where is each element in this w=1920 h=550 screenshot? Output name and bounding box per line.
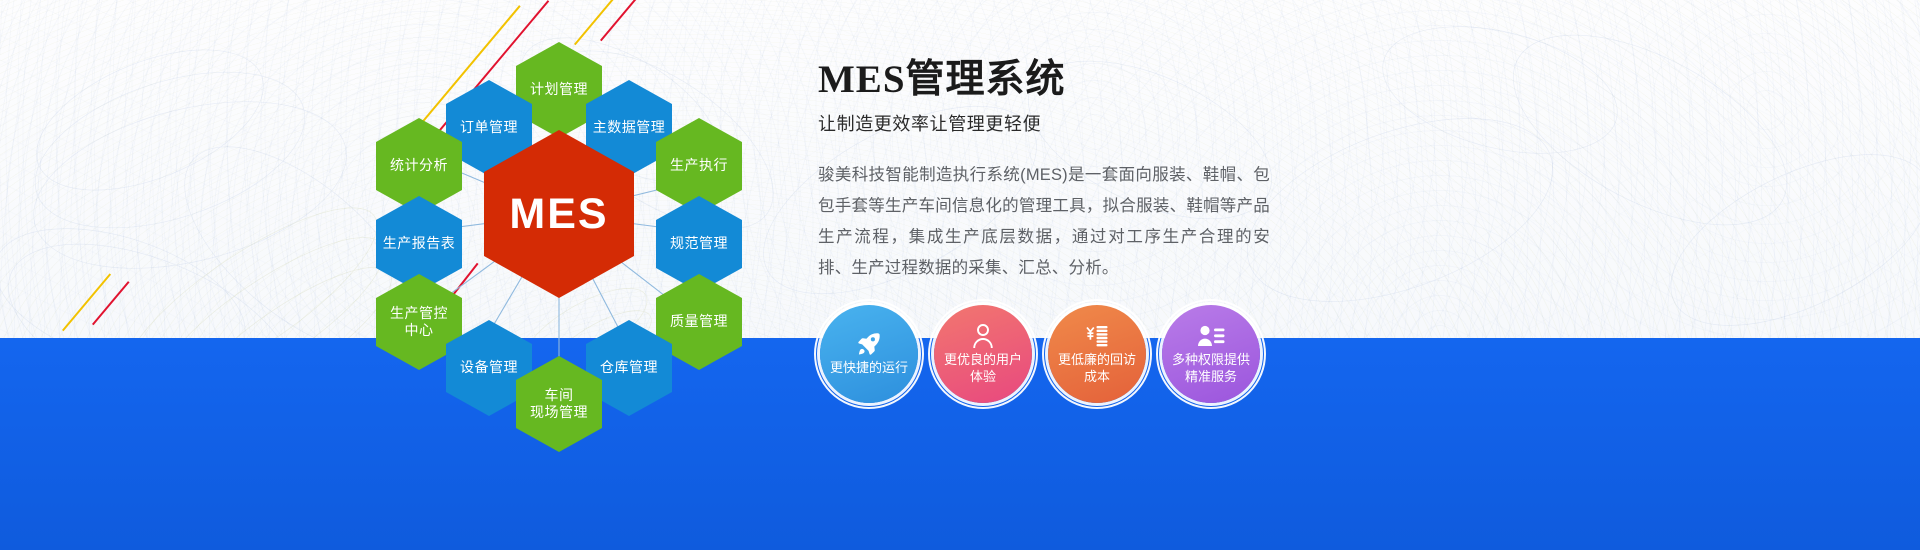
user-icon <box>971 323 995 349</box>
hex-label: 统计分析 <box>390 157 448 174</box>
content-text-block: MES管理系统 让制造更效率让管理更轻便 骏美科技智能制造执行系统(MES)是一… <box>818 60 1288 284</box>
badge-label: 更低廉的回访成本 <box>1048 352 1146 385</box>
feature-badge-experience[interactable]: 更优良的用户体验 <box>934 305 1032 403</box>
feature-badge-cost[interactable]: 更低廉的回访成本 <box>1048 305 1146 403</box>
badge-label: 更优良的用户体验 <box>934 352 1032 385</box>
mes-hexagon-diagram: 计划管理 订单管理 主数据管理 统计分析 生产执行 生产报告表 规范管理 生产管… <box>330 18 790 438</box>
rocket-icon <box>856 331 882 357</box>
feature-badge-row: 更快捷的运行 更优良的用户体验 <box>820 305 1260 403</box>
feature-badge-faster[interactable]: 更快捷的运行 <box>820 305 918 403</box>
page-subtitle: 让制造更效率让管理更轻便 <box>818 110 1288 136</box>
hex-label: 生产执行 <box>670 157 728 174</box>
hex-label: 车间现场管理 <box>530 387 588 421</box>
hex-label: 设备管理 <box>460 359 518 376</box>
page-title: MES管理系统 <box>818 60 1288 101</box>
user-list-icon <box>1197 323 1225 349</box>
hex-label: 生产报告表 <box>383 235 456 252</box>
feature-badge-permissions[interactable]: 多种权限提供精准服务 <box>1162 305 1260 403</box>
hex-center-label: MES <box>509 188 608 240</box>
coins-icon <box>1084 323 1110 349</box>
badge-label: 多种权限提供精准服务 <box>1162 352 1260 385</box>
hex-label: 规范管理 <box>670 235 728 252</box>
hex-label: 订单管理 <box>460 119 518 136</box>
hex-label: 生产管控中心 <box>390 305 448 339</box>
hex-label: 质量管理 <box>670 313 728 330</box>
mes-banner: 计划管理 订单管理 主数据管理 统计分析 生产执行 生产报告表 规范管理 生产管… <box>0 0 1920 550</box>
badge-label: 更快捷的运行 <box>822 360 916 376</box>
hex-label: 主数据管理 <box>593 119 666 136</box>
hex-label: 仓库管理 <box>600 359 658 376</box>
description-paragraph: 骏美科技智能制造执行系统(MES)是一套面向服装、鞋帽、包包手套等生产车间信息化… <box>818 160 1270 284</box>
hex-label: 计划管理 <box>530 81 588 98</box>
